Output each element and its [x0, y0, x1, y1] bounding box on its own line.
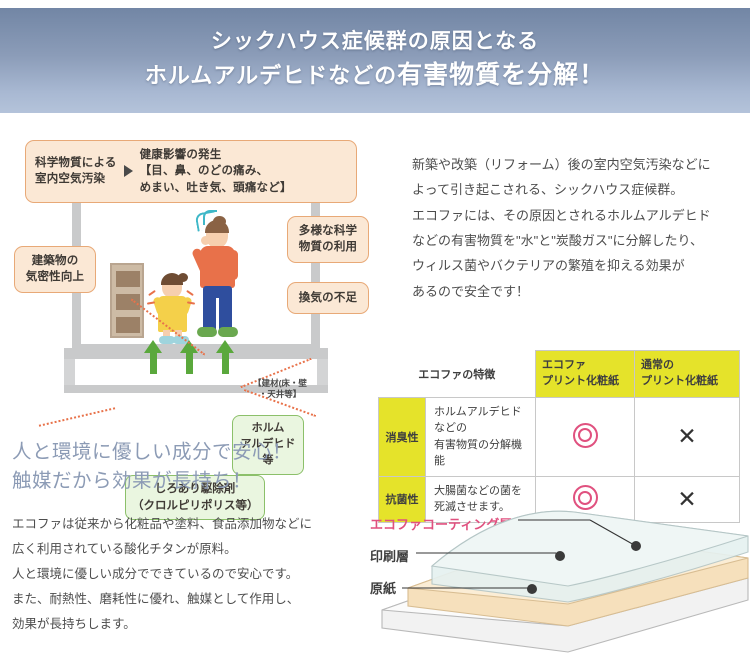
intro-line-1: 新築や改築（リフォーム）後の室内空気汚染などに [412, 152, 742, 177]
leader-dot-print [555, 551, 565, 561]
intro-line-6: あるので安全です！ [412, 279, 742, 304]
table-col-ecofa: エコファ プリント化粧紙 [536, 351, 635, 398]
termite-arrow-2-stem-icon [186, 352, 193, 374]
body-line-2: 広く利用されている酸化チタンが原料。 [12, 537, 382, 562]
row-label-deodorizing: 消臭性 [379, 397, 426, 476]
callout-diverse-chemicals: 多様な科学 物質の利用 [287, 216, 369, 263]
callout-effect-text: 健康影響の発生 【目、鼻、のどの痛み、 めまい、吐き気、頭痛など】 [140, 147, 292, 196]
child-torso-icon [158, 296, 187, 332]
banner-line-2-normal: ホルムアルデヒドなどの [145, 63, 397, 88]
section-body: エコファは従来から化粧品や塗料、食品添加物などに 広く利用されている酸化チタンが… [12, 512, 382, 637]
table-row: 消臭性 ホルムアルデヒドなどの 有害物質の分解機能 ✕ [379, 397, 740, 476]
adult-hand-icon [201, 236, 210, 245]
callout-cause-text: 科学物質による 室内空気汚染 [35, 155, 117, 188]
features-table: エコファの特徴 エコファ プリント化粧紙 通常の プリント化粧紙 消臭性 ホルム… [378, 350, 740, 523]
header-banner: シックハウス症候群の原因となる ホルムアルデヒドなどの有害物質を分解！ [0, 8, 750, 113]
callout-cause-effect: 科学物質による 室内空気汚染 健康影響の発生 【目、鼻、のどの痛み、 めまい、吐… [25, 140, 357, 203]
shelf-icon [110, 263, 144, 338]
table-header-row: エコファの特徴 エコファ プリント化粧紙 通常の プリント化粧紙 [379, 351, 740, 398]
layer-diagram: エコファコーティング層 印刷層 原紙 [368, 500, 750, 660]
row-0-ecofa-mark [536, 397, 635, 476]
layer-diagram-svg [368, 500, 750, 660]
leader-dot-coating [631, 541, 641, 551]
termite-arrow-3-icon [216, 340, 234, 353]
adult-leg-split-icon [216, 298, 219, 330]
intro-line-2: よって引き起こされる、シックハウス症候群。 [412, 177, 742, 202]
row-desc-deodorizing: ホルムアルデヒドなどの 有害物質の分解機能 [426, 397, 536, 476]
arrow-right-icon [124, 165, 133, 177]
section-heading-line-1: 人と環境に優しい成分で安心！ [12, 438, 292, 467]
callout-airtightness: 建築物の 気密性向上 [14, 246, 96, 293]
intro-line-4: などの有害物質を"水"と"炭酸ガス"に分解したり、 [412, 228, 742, 253]
adult-shoe-left-icon [197, 327, 217, 337]
banner-line-2: ホルムアルデヒドなどの有害物質を分解！ [145, 59, 605, 93]
table-col-normal: 通常の プリント化粧紙 [635, 351, 740, 398]
callout-lack-of-ventilation: 換気の不足 [287, 282, 369, 314]
dotted-connector-airtight [39, 407, 115, 426]
termite-arrow-3-stem-icon [222, 352, 229, 374]
section-heading: 人と環境に優しい成分で安心！ 触媒だから効果が長持ち！ [12, 438, 292, 497]
page-root: シックハウス症候群の原因となる ホルムアルデヒドなどの有害物質を分解！ [0, 0, 750, 664]
banner-line-1: シックハウス症候群の原因となる [211, 28, 539, 56]
intro-line-3: エコファには、その原因とされるホルムアルデヒド [412, 203, 742, 228]
cross-icon: ✕ [677, 423, 696, 449]
adult-arm-right-icon [229, 250, 238, 280]
table-title: エコファの特徴 [379, 351, 536, 398]
section-heading-line-2: 触媒だから効果が長持ち！ [12, 467, 292, 496]
double-circle-icon [573, 423, 598, 448]
intro-paragraph: 新築や改築（リフォーム）後の室内空気汚染などに よって引き起こされる、シックハウ… [412, 152, 742, 304]
termite-arrow-1-icon [144, 340, 162, 353]
termite-arrow-1-stem-icon [150, 352, 157, 374]
body-line-5: 効果が長持ちします。 [12, 612, 382, 637]
building-material-label: 【建材(床・壁 ・天井等】 [238, 378, 322, 401]
intro-line-5: ウィルス菌やバクテリアの繁殖を抑える効果が [412, 253, 742, 278]
body-line-3: 人と環境に優しい成分でできているので安心です。 [12, 562, 382, 587]
banner-line-2-emphasis: 有害物質を分解！ [397, 61, 605, 89]
body-line-4: また、耐熱性、磨耗性に優れ、触媒として作用し、 [12, 587, 382, 612]
row-0-normal-mark: ✕ [635, 397, 740, 476]
leader-dot-base [527, 584, 537, 594]
adult-shoe-right-icon [218, 327, 238, 337]
body-line-1: エコファは従来から化粧品や塗料、食品添加物などに [12, 512, 382, 537]
